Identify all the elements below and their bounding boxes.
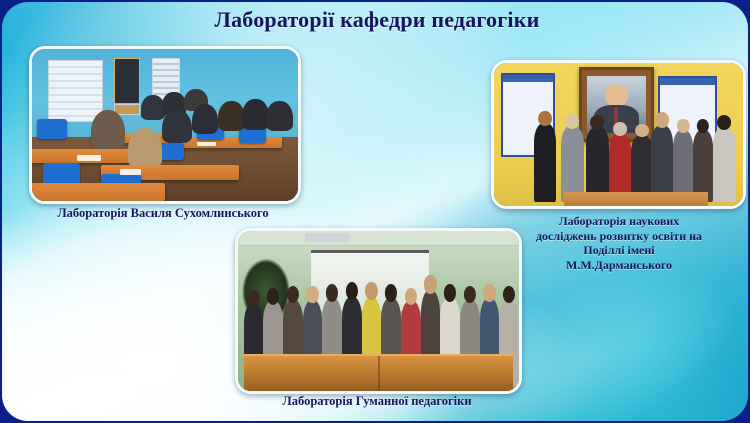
- portrait-face: [605, 84, 628, 107]
- student-figure: [162, 110, 191, 143]
- slide-canvas: Лабораторії кафедри педагогіки: [2, 2, 748, 421]
- caption-line: Поділлі імені: [491, 243, 747, 258]
- meeting-table: [564, 192, 708, 206]
- desk-paper: [197, 142, 216, 147]
- person-figure: [534, 123, 556, 202]
- photo-sukhomlynsky: [29, 46, 301, 204]
- desk-paper: [120, 169, 141, 175]
- caption-darmanskyi: Лабораторія наукових досліджень розвитку…: [491, 214, 747, 273]
- student-figure: [218, 101, 245, 131]
- student-figure: [91, 110, 126, 150]
- photo-darmanskyi-scene: [494, 63, 743, 206]
- caption-line: досліджень розвитку освіти на: [491, 229, 747, 244]
- student-figure: [128, 128, 163, 168]
- student-figure: [242, 99, 269, 129]
- student-figure: [192, 104, 219, 134]
- desk-paper: [77, 155, 101, 161]
- classroom-desk: [176, 137, 282, 148]
- projector: [305, 233, 350, 243]
- presentation-slide: Лабораторії кафедри педагогіки: [0, 0, 750, 423]
- classroom-desk: [32, 183, 165, 201]
- person-figure: [713, 127, 735, 201]
- photo-humane-pedagogy: [235, 228, 522, 394]
- photo-darmanskyi: [491, 60, 746, 209]
- photo-sukhomlynsky-scene: [32, 49, 298, 201]
- classroom-chair: [37, 119, 66, 139]
- person-figure: [651, 125, 673, 202]
- person-figure: [561, 126, 583, 202]
- caption-humane-pedagogy: Лабораторія Гуманної педагогіки: [202, 394, 552, 409]
- person-figure: [586, 127, 608, 201]
- caption-line: Лабораторія наукових: [491, 214, 747, 229]
- ceiling: [238, 231, 519, 246]
- caption-line: М.М.Дарманського: [491, 258, 747, 273]
- wooden-table: [244, 354, 514, 391]
- student-figure: [266, 101, 293, 131]
- photo-humane-pedagogy-scene: [238, 231, 519, 391]
- wall-poster-chart: [48, 60, 103, 123]
- slide-title: Лабораторії кафедри педагогіки: [2, 7, 748, 33]
- wall-portrait-frame: [114, 58, 140, 104]
- caption-sukhomlynsky: Лабораторія Василя Сухомлинського: [8, 206, 318, 221]
